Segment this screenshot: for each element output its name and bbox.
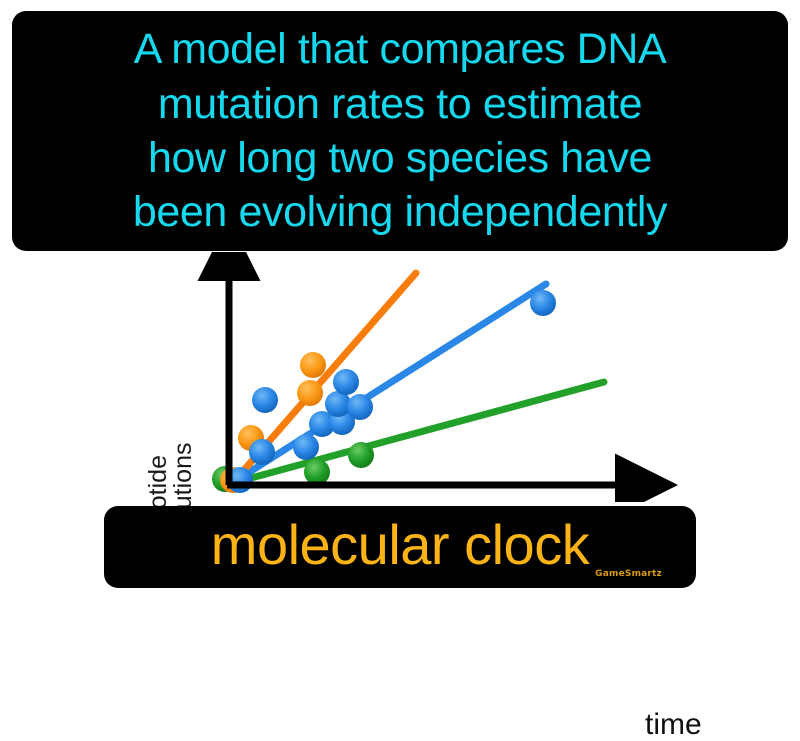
datapoint-medium — [252, 387, 278, 413]
datapoint-medium — [333, 369, 359, 395]
term-card: molecular clock GameSmartz — [104, 506, 696, 588]
datapoint-medium — [293, 434, 319, 460]
datapoint-medium — [347, 394, 373, 420]
datapoint-fast — [300, 352, 326, 378]
definition-text: A model that compares DNA mutation rates… — [133, 22, 667, 240]
datapoint-medium — [530, 290, 556, 316]
datapoint-fast — [297, 380, 323, 406]
molecular-clock-chart: nucleotide substitutions time — [0, 252, 800, 502]
definition-card: A model that compares DNA mutation rates… — [12, 11, 788, 251]
term-label: molecular clock — [211, 517, 589, 573]
datapoint-slow — [304, 459, 330, 485]
trendline-slow — [229, 382, 604, 484]
axes-group — [227, 274, 622, 485]
trendline-medium — [229, 284, 546, 485]
watermark-label: GameSmartz — [595, 569, 662, 579]
datapoint-slow — [348, 442, 374, 468]
x-axis-label: time — [645, 710, 702, 740]
datapoint-medium — [249, 439, 275, 465]
chart-canvas — [0, 252, 800, 502]
datapoint-group-medium — [227, 290, 556, 493]
